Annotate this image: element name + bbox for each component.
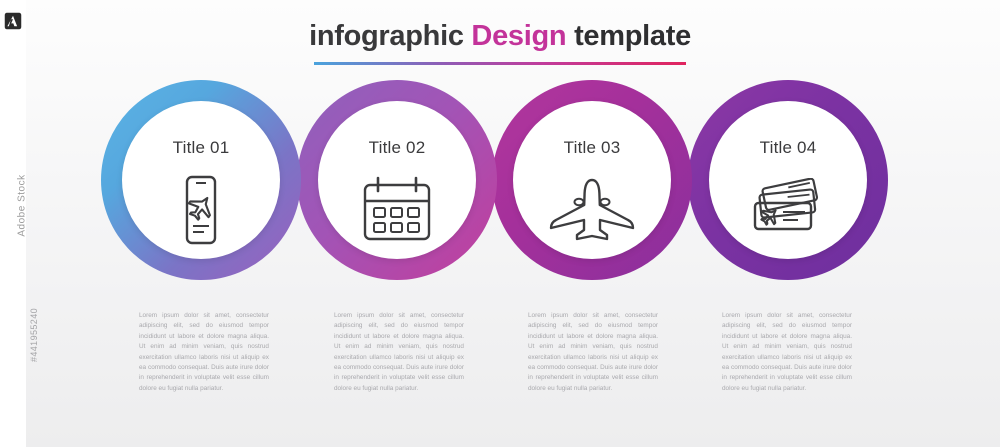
step-title-4: Title 04 bbox=[688, 138, 888, 158]
step-body-2: Lorem ipsum dolor sit amet, consectetur … bbox=[334, 311, 464, 394]
watermark-code-text: #441955240 bbox=[29, 255, 39, 415]
airplane-front-icon bbox=[546, 175, 638, 245]
watermark-brand-text: Adobe Stock bbox=[17, 96, 28, 316]
smartphone-airplane-icon bbox=[174, 174, 228, 246]
infographic-canvas: infographic Design template Title 01 Tit… bbox=[0, 0, 1000, 447]
step-title-2: Title 02 bbox=[297, 138, 497, 158]
calendar-icon bbox=[359, 175, 435, 245]
step-icon-slot-2 bbox=[297, 170, 497, 250]
title-underline-gradient bbox=[314, 62, 686, 65]
step-body-3: Lorem ipsum dolor sit amet, consectetur … bbox=[528, 311, 658, 394]
watermark-bar: Adobe Stock #441955240 bbox=[0, 0, 26, 447]
title-word-template: template bbox=[574, 20, 691, 52]
airline-tickets-icon bbox=[745, 178, 831, 242]
step-icon-slot-1 bbox=[101, 170, 301, 250]
page-title: infographic Design template bbox=[0, 20, 1000, 53]
step-body-1: Lorem ipsum dolor sit amet, consectetur … bbox=[139, 311, 269, 394]
step-body-4: Lorem ipsum dolor sit amet, consectetur … bbox=[722, 311, 852, 394]
step-icon-slot-3 bbox=[492, 170, 692, 250]
step-icon-slot-4 bbox=[688, 170, 888, 250]
step-title-1: Title 01 bbox=[101, 138, 301, 158]
title-word-infographic: infographic bbox=[309, 20, 464, 52]
adobe-stock-logo-icon bbox=[4, 12, 22, 30]
title-word-design: Design bbox=[471, 20, 566, 52]
step-title-3: Title 03 bbox=[492, 138, 692, 158]
